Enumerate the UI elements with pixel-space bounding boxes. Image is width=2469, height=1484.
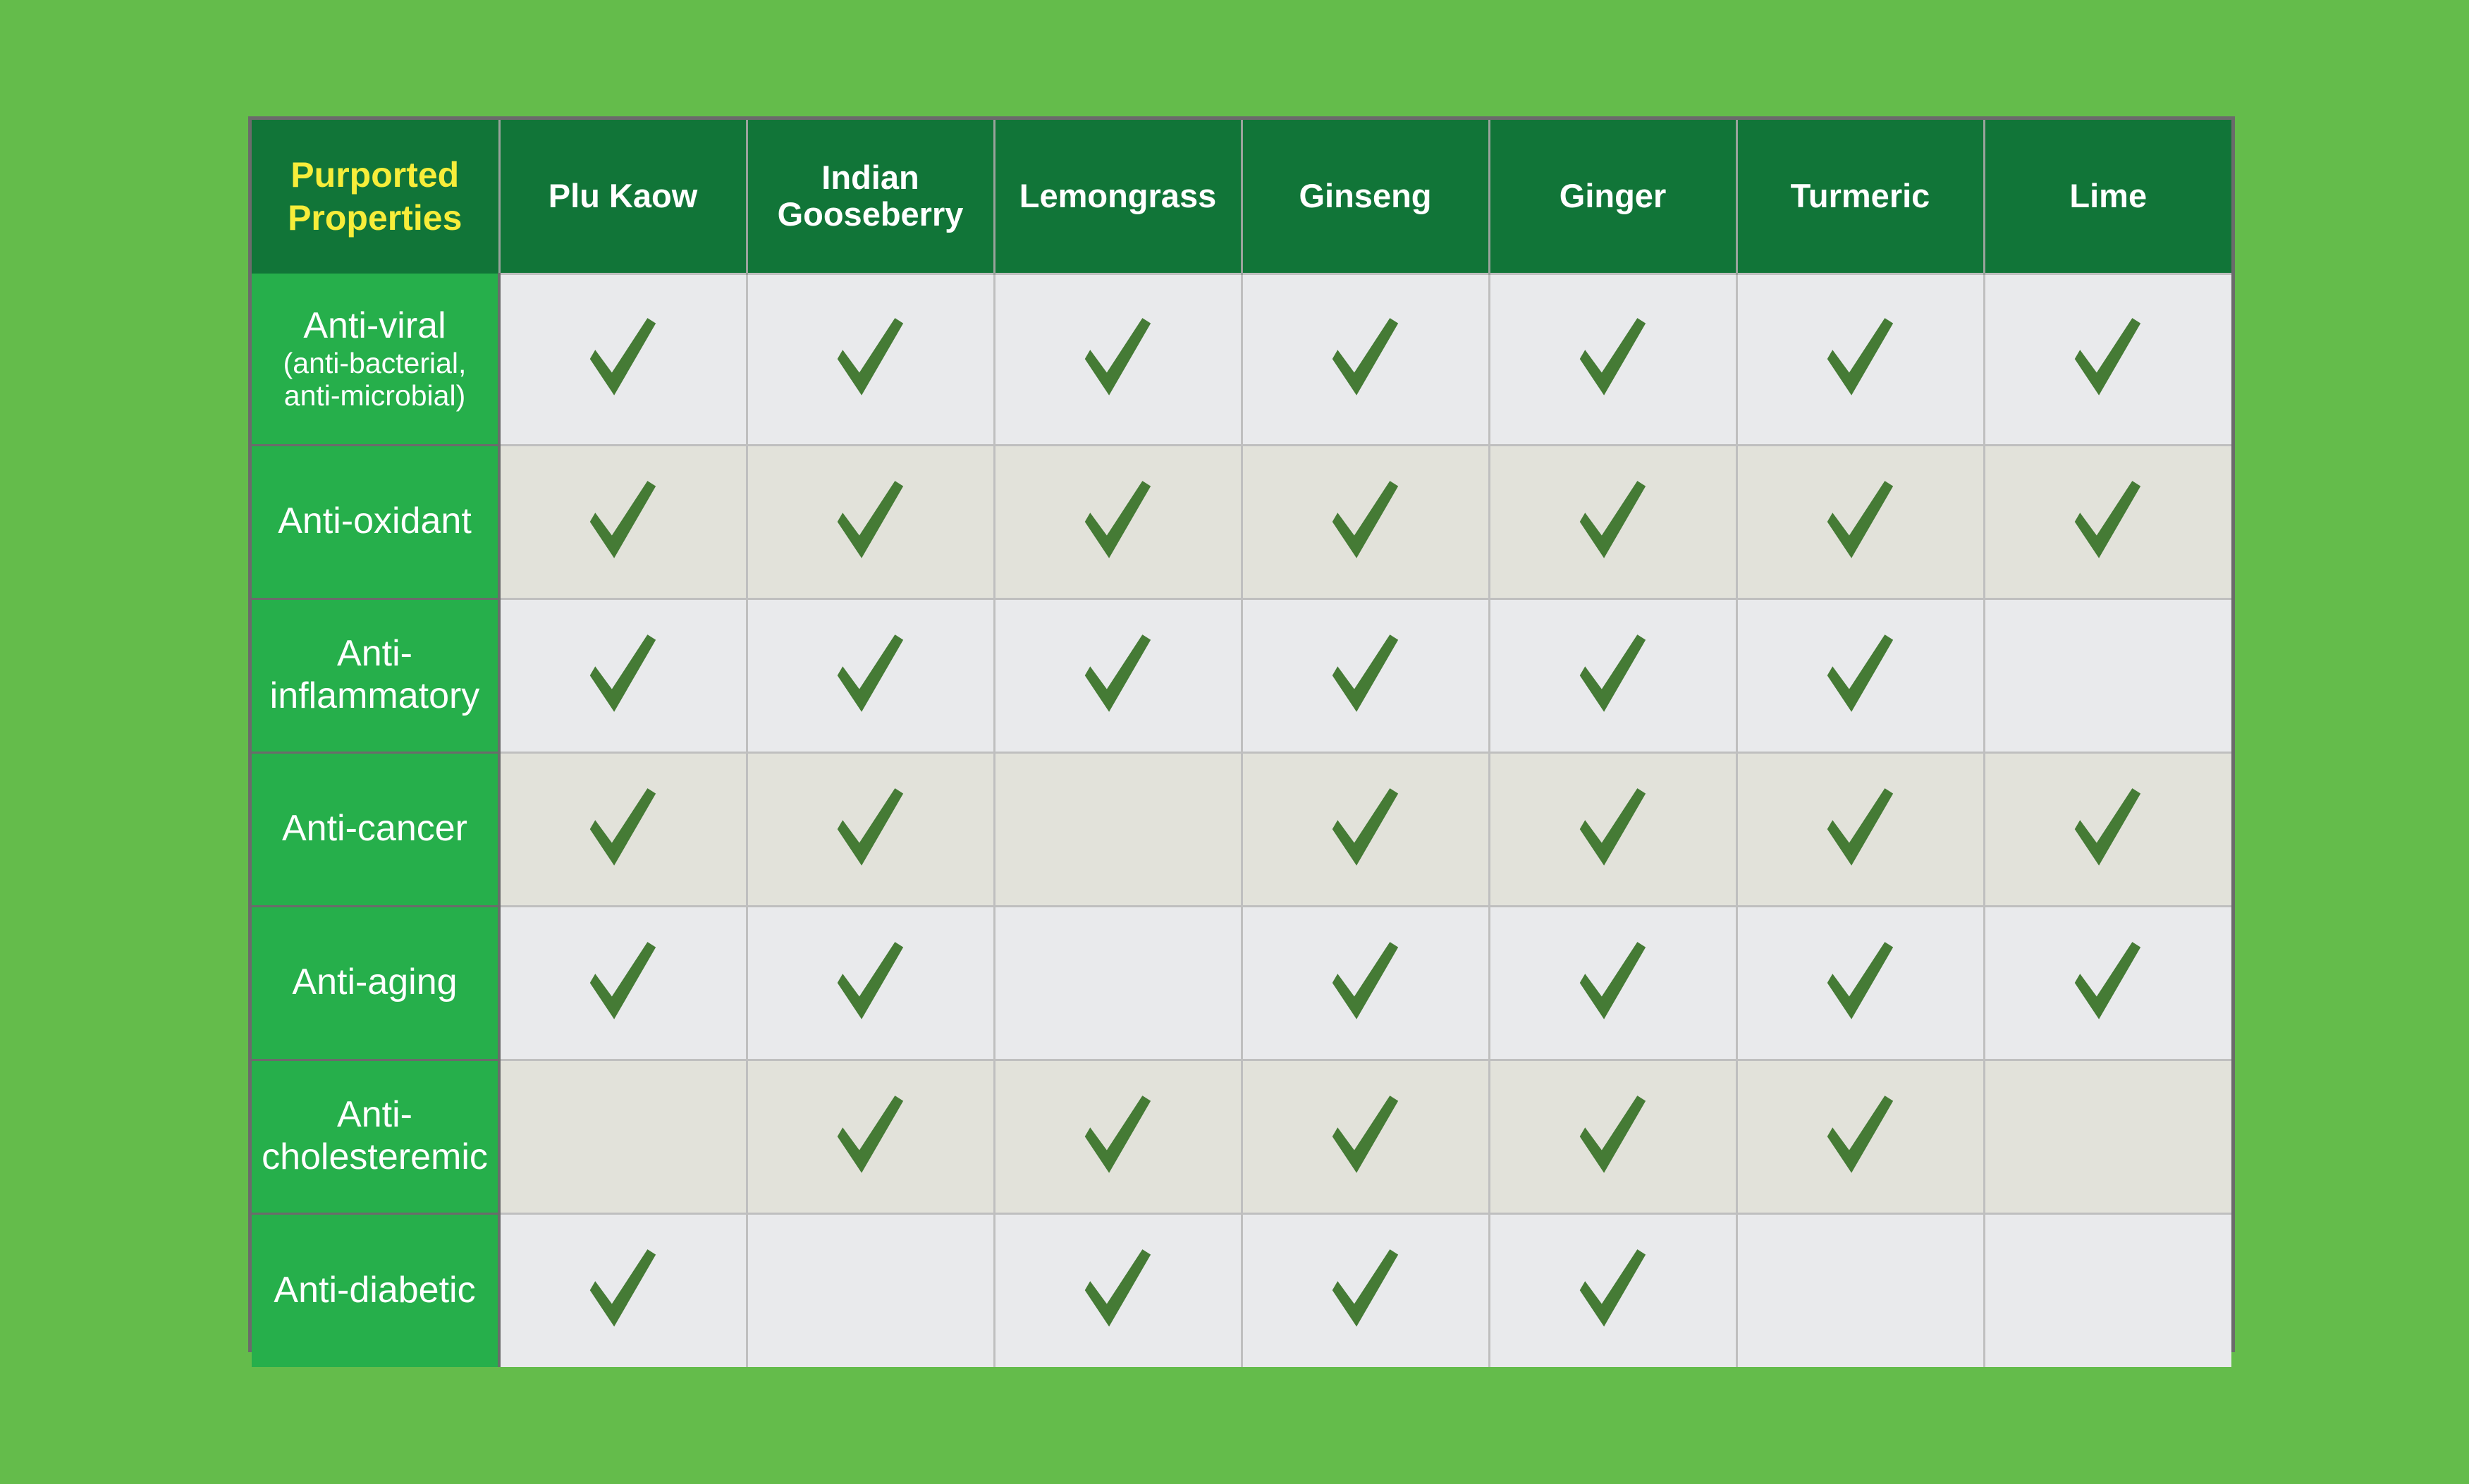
check-mark-icon [833,940,909,1022]
row-label-text: Anti-cancer [282,808,467,849]
check-mark-icon [1328,479,1404,561]
check-mark-icon [585,940,661,1022]
row-label-subtext: (anti-bacterial, anti-microbial) [259,348,491,412]
header-row: Purported Properties Plu Kaow Indian Goo… [252,120,2231,274]
table-row: Anti-viral(anti-bacterial, anti-microbia… [252,274,2231,445]
check-mark-icon [1822,1094,1899,1176]
check-mark-icon [2070,317,2146,398]
column-header-label: Turmeric [1791,177,1930,214]
check-mark-icon [1328,1248,1404,1330]
check-mark-icon [1328,317,1404,398]
cell-anti-cancer-lime [1984,752,2231,906]
table-row: Anti-cancer [252,752,2231,906]
cell-anti-aging-lemongrass [994,906,1242,1060]
cell-anti-viral-ginger [1489,274,1736,445]
cell-anti-cancer-turmeric [1736,752,1984,906]
table-header: Purported Properties Plu Kaow Indian Goo… [252,120,2231,274]
table-body: Anti-viral(anti-bacterial, anti-microbia… [252,274,2231,1367]
row-label-anti-cholesteremic: Anti-cholesteremic [252,1060,499,1213]
cell-anti-cholesteremic-lemongrass [994,1060,1242,1213]
cell-anti-cancer-plu-kaow [499,752,747,906]
cell-anti-aging-lime [1984,906,2231,1060]
cell-anti-oxidant-lime [1984,445,2231,599]
check-mark-icon [1328,940,1404,1022]
check-mark-icon [585,317,661,398]
check-mark-icon [833,479,909,561]
check-mark-icon [1575,479,1651,561]
cell-anti-aging-indian-gooseberry [747,906,994,1060]
cell-anti-oxidant-plu-kaow [499,445,747,599]
properties-matrix-table: Purported Properties Plu Kaow Indian Goo… [252,120,2231,1367]
column-header-ginseng: Ginseng [1242,120,1489,274]
empty-cell-marker [2070,633,2146,715]
check-mark-icon [2070,787,2146,869]
check-mark-icon [1080,1248,1156,1330]
check-mark-icon [1575,1094,1651,1176]
cell-anti-cancer-ginseng [1242,752,1489,906]
cell-anti-viral-lemongrass [994,274,1242,445]
empty-cell-marker [2070,1094,2146,1176]
cell-anti-viral-lime [1984,274,2231,445]
column-header-label-line1: Indian [821,159,919,196]
cell-anti-diabetic-lemongrass [994,1213,1242,1367]
check-mark-icon [1080,633,1156,715]
check-mark-icon [585,479,661,561]
cell-anti-inflammatory-ginseng [1242,599,1489,752]
corner-header-line2: Properties [288,198,462,238]
table-row: Anti-diabetic [252,1213,2231,1367]
cell-anti-diabetic-ginger [1489,1213,1736,1367]
row-label-anti-aging: Anti-aging [252,906,499,1060]
check-mark-icon [833,633,909,715]
column-header-lime: Lime [1984,120,2231,274]
row-label-text: Anti-aging [292,962,457,1002]
cell-anti-inflammatory-turmeric [1736,599,1984,752]
row-label-text: Anti-inflammatory [270,633,480,716]
cell-anti-diabetic-turmeric [1736,1213,1984,1367]
properties-table-container: Purported Properties Plu Kaow Indian Goo… [248,116,2235,1352]
column-header-label: Lemongrass [1019,177,1216,214]
check-mark-icon [1575,317,1651,398]
cell-anti-cholesteremic-indian-gooseberry [747,1060,994,1213]
cell-anti-aging-plu-kaow [499,906,747,1060]
check-mark-icon [1575,787,1651,869]
cell-anti-oxidant-lemongrass [994,445,1242,599]
column-header-plu-kaow: Plu Kaow [499,120,747,274]
column-header-label: Plu Kaow [549,177,698,214]
check-mark-icon [833,1094,909,1176]
cell-anti-oxidant-indian-gooseberry [747,445,994,599]
cell-anti-oxidant-ginger [1489,445,1736,599]
column-header-indian-gooseberry: Indian Gooseberry [747,120,994,274]
cell-anti-viral-ginseng [1242,274,1489,445]
check-mark-icon [1822,479,1899,561]
table-row: Anti-cholesteremic [252,1060,2231,1213]
cell-anti-diabetic-indian-gooseberry [747,1213,994,1367]
cell-anti-viral-turmeric [1736,274,1984,445]
cell-anti-diabetic-plu-kaow [499,1213,747,1367]
column-header-label: Lime [2069,177,2147,214]
row-label-anti-inflammatory: Anti-inflammatory [252,599,499,752]
check-mark-icon [2070,479,2146,561]
check-mark-icon [1575,1248,1651,1330]
cell-anti-inflammatory-indian-gooseberry [747,599,994,752]
row-label-text: Anti-viral [303,305,446,346]
row-label-anti-diabetic: Anti-diabetic [252,1213,499,1367]
column-header-label: Ginger [1560,177,1666,214]
check-mark-icon [1822,940,1899,1022]
cell-anti-cancer-ginger [1489,752,1736,906]
cell-anti-oxidant-ginseng [1242,445,1489,599]
cell-anti-cholesteremic-plu-kaow [499,1060,747,1213]
table-row: Anti-oxidant [252,445,2231,599]
empty-cell-marker [2070,1248,2146,1330]
cell-anti-cancer-lemongrass [994,752,1242,906]
check-mark-icon [585,1248,661,1330]
column-header-ginger: Ginger [1489,120,1736,274]
cell-anti-inflammatory-lime [1984,599,2231,752]
table-row: Anti-inflammatory [252,599,2231,752]
cell-anti-cholesteremic-ginger [1489,1060,1736,1213]
cell-anti-diabetic-ginseng [1242,1213,1489,1367]
cell-anti-inflammatory-ginger [1489,599,1736,752]
row-label-text: Anti-oxidant [278,501,472,541]
cell-anti-aging-ginger [1489,906,1736,1060]
empty-cell-marker [1822,1248,1899,1330]
corner-header-purported-properties: Purported Properties [252,120,499,274]
cell-anti-cholesteremic-lime [1984,1060,2231,1213]
corner-header-line1: Purported [290,155,459,195]
check-mark-icon [1328,787,1404,869]
table-row: Anti-aging [252,906,2231,1060]
cell-anti-aging-turmeric [1736,906,1984,1060]
row-label-anti-oxidant: Anti-oxidant [252,445,499,599]
cell-anti-aging-ginseng [1242,906,1489,1060]
check-mark-icon [585,633,661,715]
check-mark-icon [833,317,909,398]
check-mark-icon [1080,479,1156,561]
cell-anti-inflammatory-plu-kaow [499,599,747,752]
empty-cell-marker [585,1094,661,1176]
page-canvas: Purported Properties Plu Kaow Indian Goo… [0,0,2469,1484]
row-label-anti-cancer: Anti-cancer [252,752,499,906]
cell-anti-viral-plu-kaow [499,274,747,445]
empty-cell-marker [1080,940,1156,1022]
check-mark-icon [1822,317,1899,398]
cell-anti-viral-indian-gooseberry [747,274,994,445]
column-header-label: Ginseng [1299,177,1431,214]
column-header-lemongrass: Lemongrass [994,120,1242,274]
cell-anti-diabetic-lime [1984,1213,2231,1367]
cell-anti-cholesteremic-ginseng [1242,1060,1489,1213]
cell-anti-cholesteremic-turmeric [1736,1060,1984,1213]
check-mark-icon [1575,940,1651,1022]
column-header-turmeric: Turmeric [1736,120,1984,274]
check-mark-icon [1328,1094,1404,1176]
row-label-text: Anti-diabetic [274,1270,475,1311]
empty-cell-marker [833,1248,909,1330]
check-mark-icon [1080,1094,1156,1176]
check-mark-icon [585,787,661,869]
column-header-label-line2: Gooseberry [778,195,964,233]
cell-anti-cancer-indian-gooseberry [747,752,994,906]
check-mark-icon [833,787,909,869]
check-mark-icon [1822,633,1899,715]
cell-anti-inflammatory-lemongrass [994,599,1242,752]
check-mark-icon [2070,940,2146,1022]
check-mark-icon [1575,633,1651,715]
check-mark-icon [1328,633,1404,715]
cell-anti-oxidant-turmeric [1736,445,1984,599]
empty-cell-marker [1080,787,1156,869]
row-label-text: Anti-cholesteremic [262,1094,488,1177]
row-label-anti-viral: Anti-viral(anti-bacterial, anti-microbia… [252,274,499,445]
check-mark-icon [1080,317,1156,398]
check-mark-icon [1822,787,1899,869]
